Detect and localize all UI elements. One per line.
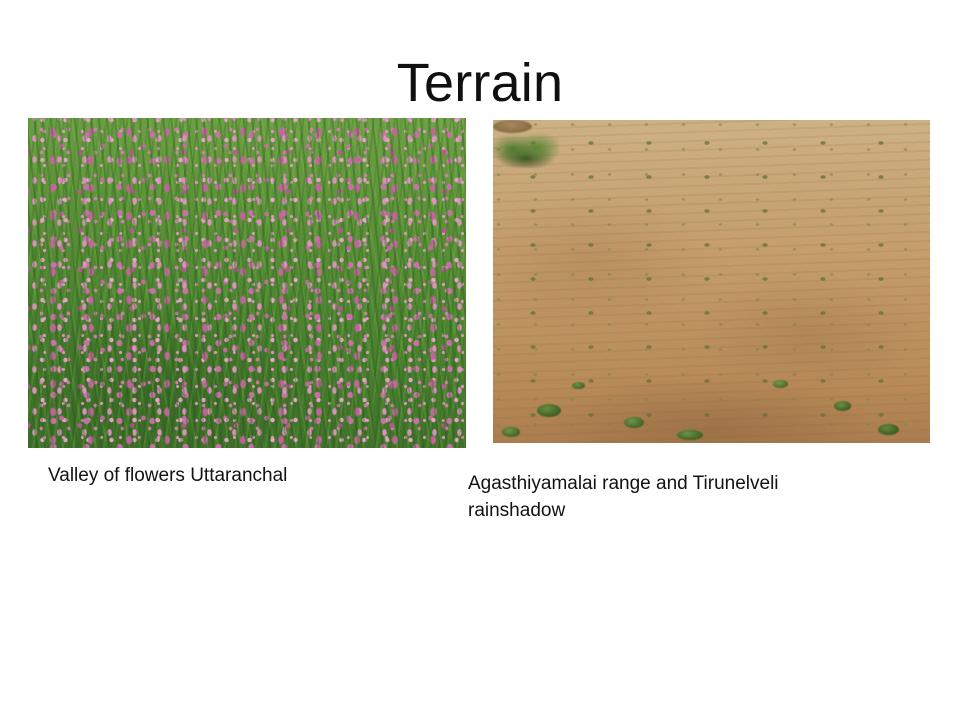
presentation-slide: Terrain bbox=[0, 0, 960, 720]
image-agasthiyamalai-rainshadow[interactable] bbox=[493, 120, 930, 443]
scattered-scrub bbox=[493, 120, 930, 443]
caption-valley-of-flowers: Valley of flowers Uttaranchal bbox=[48, 462, 448, 489]
small-bush bbox=[834, 401, 851, 411]
small-bush bbox=[572, 382, 585, 389]
small-bush bbox=[624, 417, 644, 428]
page-title: Terrain bbox=[0, 52, 960, 114]
foreground-bush bbox=[493, 133, 559, 169]
small-bush bbox=[502, 427, 520, 437]
caption-agasthiyamalai-rainshadow: Agasthiyamalai range and Tirunelveli rai… bbox=[468, 470, 868, 524]
image-valley-of-flowers[interactable] bbox=[28, 118, 466, 448]
foreground-grass bbox=[28, 118, 466, 448]
small-bush bbox=[773, 380, 788, 388]
small-bush bbox=[537, 404, 561, 417]
